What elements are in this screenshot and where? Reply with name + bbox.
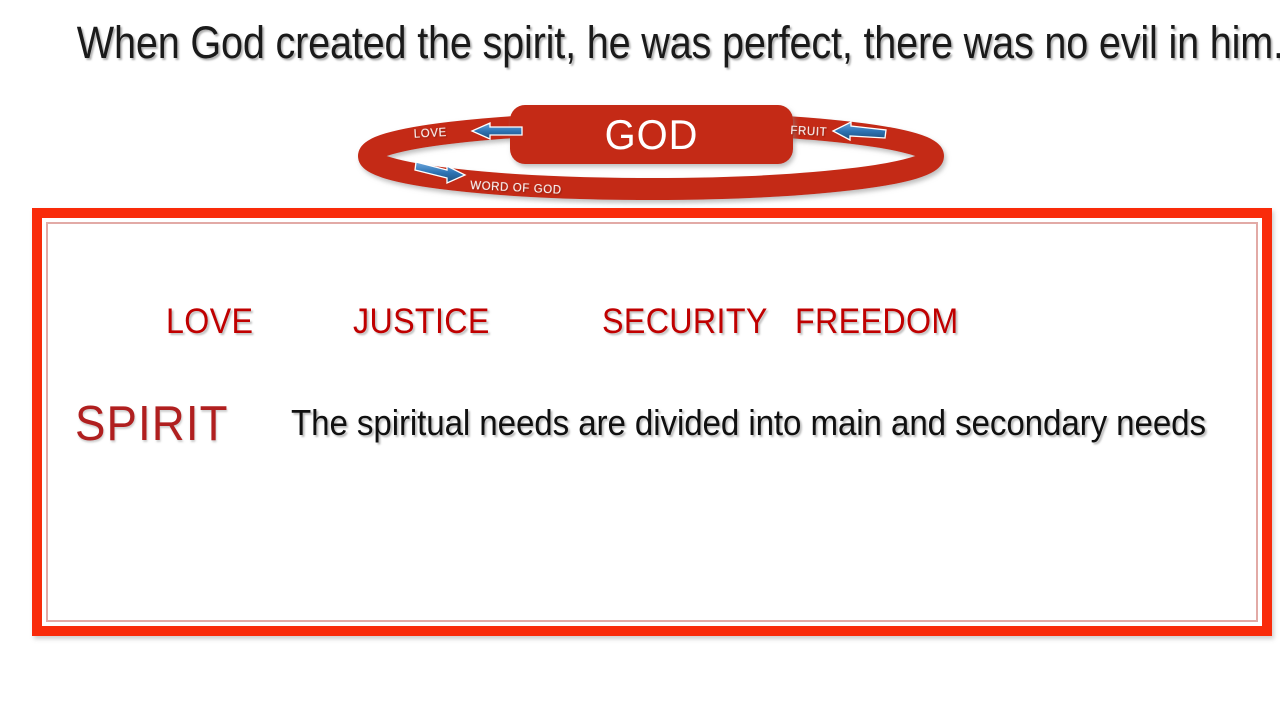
content-body: LOVE JUSTICE SECURITY FREEDOM SPIRIT The…: [48, 224, 1256, 620]
content-frame: LOVE JUSTICE SECURITY FREEDOM SPIRIT The…: [32, 208, 1272, 636]
ring-label-fruit: FRUIT: [790, 125, 827, 139]
content-frame-gap: LOVE JUSTICE SECURITY FREEDOM SPIRIT The…: [42, 218, 1262, 626]
need-label-love: LOVE: [166, 302, 253, 342]
needs-row: LOVE JUSTICE SECURITY FREEDOM: [48, 302, 1256, 348]
spirit-row: SPIRIT The spiritual needs are divided i…: [48, 396, 1256, 456]
god-box: [510, 105, 793, 164]
spirit-label: SPIRIT: [75, 396, 229, 452]
slide-title: When God created the spirit, he was perf…: [77, 14, 1203, 72]
need-label-justice: JUSTICE: [353, 302, 490, 342]
content-frame-inner-border: LOVE JUSTICE SECURITY FREEDOM SPIRIT The…: [46, 222, 1258, 622]
diagram-svg: LOVE FRUIT WORD OF GOD: [330, 90, 970, 215]
need-label-freedom: FREEDOM: [795, 302, 959, 342]
ring-label-love: LOVE: [413, 127, 447, 141]
need-label-security: SECURITY: [602, 302, 768, 342]
god-cycle-diagram: LOVE FRUIT WORD OF GOD GOD: [330, 90, 970, 215]
spirit-description: The spiritual needs are divided into mai…: [291, 402, 1206, 444]
